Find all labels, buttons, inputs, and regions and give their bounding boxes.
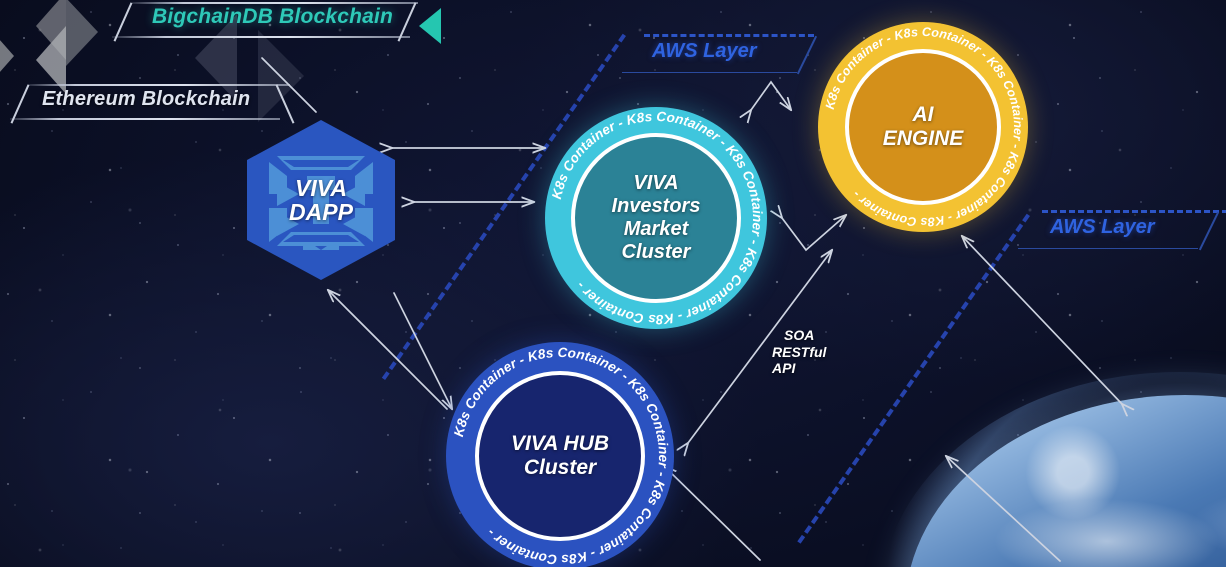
- dapp-label-line1: VIVA: [289, 176, 353, 200]
- aws-solid-bottom-line: [1018, 248, 1198, 249]
- node-viva-hub-cluster[interactable]: K8s Container - K8s Container - K8s Cont…: [446, 342, 674, 567]
- aws-layer-banner-top: AWS Layer: [622, 34, 822, 76]
- hub-line1: VIVA HUB: [511, 432, 609, 456]
- architecture-diagram: BigchainDB Blockchain Ethereum Blockchai…: [0, 0, 1226, 567]
- investors-line1: VIVA: [612, 172, 701, 195]
- node-ai-engine-label: AI ENGINE: [883, 103, 964, 151]
- cluster-core-investors: VIVA Investors Market Cluster: [571, 133, 741, 303]
- node-ai-engine[interactable]: K8s Container - K8s Container - K8s Cont…: [818, 22, 1028, 232]
- cluster-core-hub: VIVA HUB Cluster: [475, 371, 645, 541]
- earth-image: [905, 395, 1226, 567]
- aws-layer-banner-right: AWS Layer: [1028, 210, 1226, 252]
- decorative-triangle-1: [0, 22, 14, 90]
- decorative-triangle-4: [66, 0, 98, 66]
- aws-dashed-top-line: [1042, 210, 1226, 213]
- node-viva-investors-market-cluster[interactable]: K8s Container - K8s Container - K8s Cont…: [545, 107, 767, 329]
- aws-layer-label-right: AWS Layer: [1050, 216, 1154, 239]
- banner-ethereum: Ethereum Blockchain: [10, 84, 300, 124]
- soa-restful-api-label: SOA RESTful API: [772, 327, 826, 377]
- soa-line-1: SOA: [772, 327, 826, 344]
- node-viva-dapp[interactable]: VIVA DAPP: [247, 120, 395, 280]
- banner-top-line: [28, 84, 290, 86]
- teal-triangle-icon: [419, 8, 441, 44]
- node-viva-hub-label: VIVA HUB Cluster: [511, 432, 609, 480]
- ai-line2: ENGINE: [883, 127, 964, 151]
- aws-solid-bottom-line: [622, 72, 797, 73]
- aws-right-edge: [797, 36, 817, 74]
- hub-line2: Cluster: [511, 456, 609, 480]
- banner-bottom-line: [112, 36, 410, 38]
- banner-top-line: [132, 2, 418, 4]
- banner-bottom-line: [10, 118, 280, 120]
- banner-ethereum-label: Ethereum Blockchain: [42, 88, 250, 111]
- cluster-core-ai-engine: AI ENGINE: [845, 49, 1001, 205]
- ai-line1: AI: [883, 103, 964, 127]
- investors-line4: Cluster: [612, 241, 701, 264]
- node-investors-label: VIVA Investors Market Cluster: [612, 172, 701, 263]
- banner-bigchaindb: BigchainDB Blockchain: [96, 2, 416, 42]
- dapp-label-line2: DAPP: [289, 200, 353, 224]
- investors-line2: Investors: [612, 195, 701, 218]
- investors-line3: Market: [612, 218, 701, 241]
- banner-bigchaindb-label: BigchainDB Blockchain: [152, 5, 393, 29]
- soa-line-3: API: [772, 360, 826, 377]
- soa-line-2: RESTful: [772, 344, 826, 361]
- aws-right-edge: [1199, 212, 1219, 250]
- aws-dashed-top-line: [644, 34, 814, 37]
- aws-layer-label-top: AWS Layer: [652, 40, 756, 63]
- node-viva-dapp-label: VIVA DAPP: [289, 176, 353, 224]
